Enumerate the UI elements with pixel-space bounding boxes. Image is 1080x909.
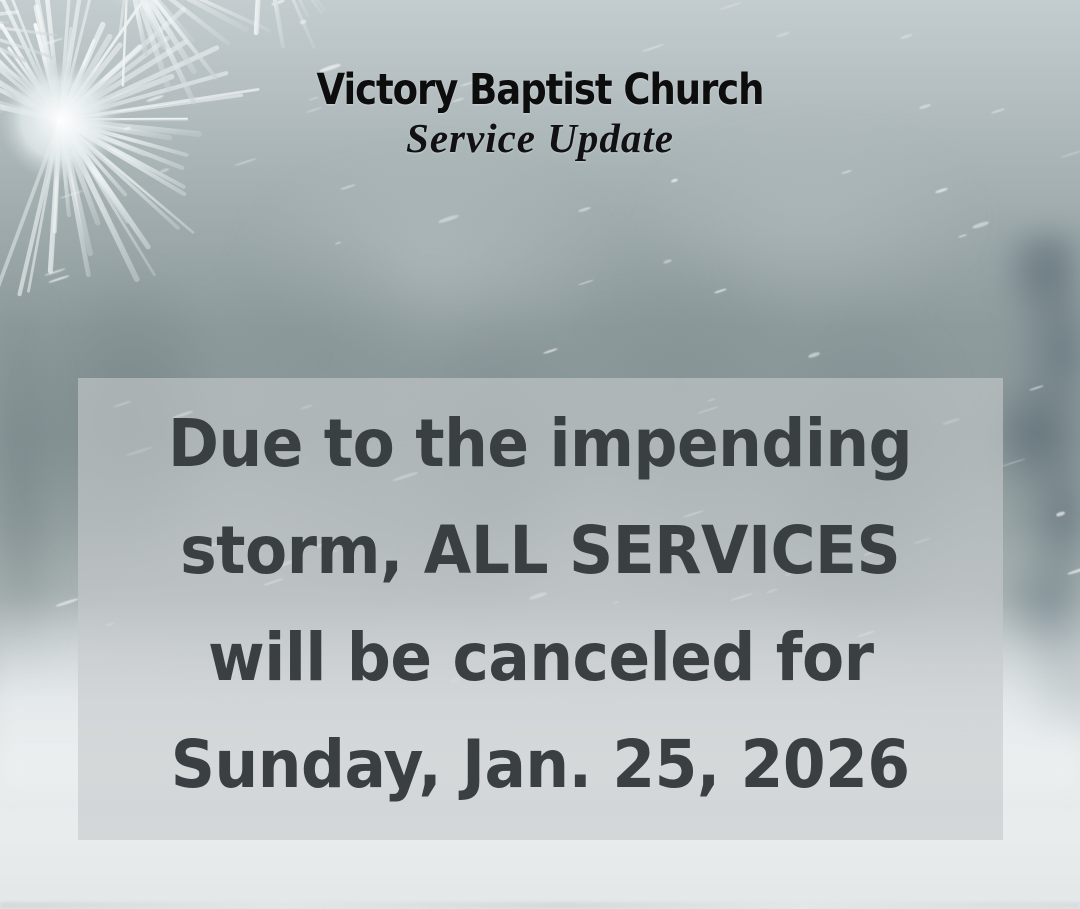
notice-line: Due to the impending [168,391,912,498]
announcement-panel: Due to the impending storm, ALL SERVICES… [78,378,1003,840]
church-name: Victory Baptist Church [76,70,1005,111]
frosted-pine-branch-icon [0,0,340,340]
notice-line: will be canceled for [208,605,873,712]
bottom-edge-artifact [0,902,1080,909]
poster-subtitle: Service Update [0,117,1080,160]
service-update-poster: Victory Baptist Church Service Update Du… [0,0,1080,909]
notice-line: storm, ALL SERVICES [180,498,900,605]
notice-line: Sunday, Jan. 25, 2026 [171,712,910,819]
poster-heading: Victory Baptist Church Service Update [0,70,1080,160]
